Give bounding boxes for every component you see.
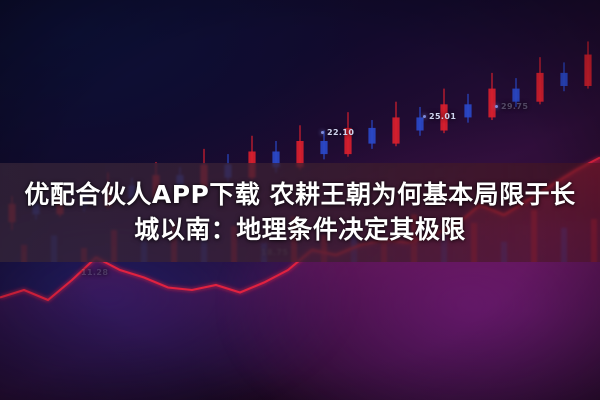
headline-overlay: 优配合伙人APP下载 农耕王朝为何基本局限于长 城以南：地理条件决定其极限 (0, 163, 600, 262)
headline-line-1: 优配合伙人APP下载 农耕王朝为何基本局限于长 (24, 178, 575, 213)
headline-line-2: 城以南：地理条件决定其极限 (134, 213, 466, 248)
promo-banner: 22.1025.0129.7510.0718.7511.28 优配合伙人APP下… (0, 0, 600, 400)
